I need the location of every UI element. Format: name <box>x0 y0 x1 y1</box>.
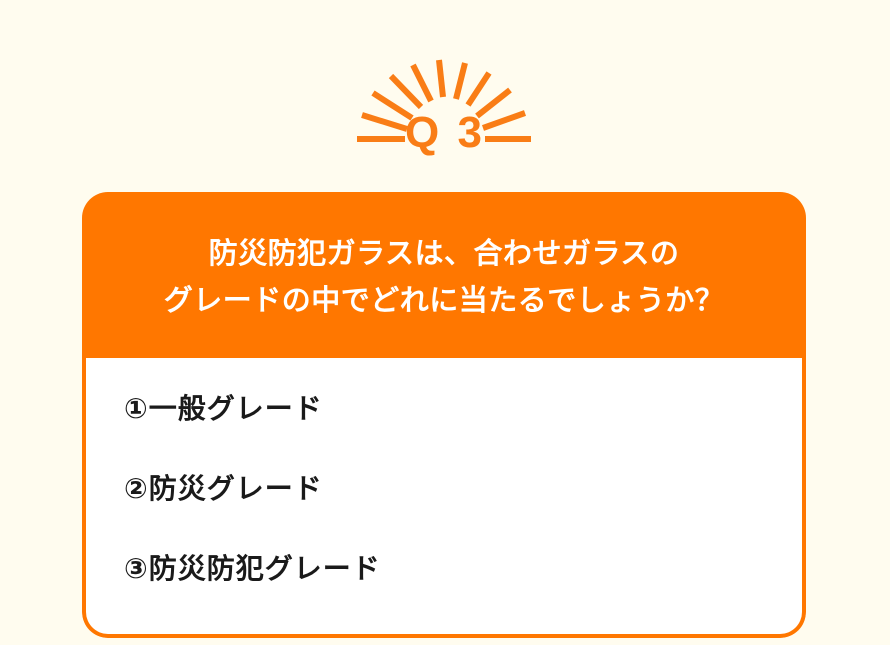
answer-option-2[interactable]: ②防災グレード <box>124 472 802 506</box>
answer-options-list: ①一般グレード ②防災グレード ③防災防犯グレード <box>82 358 806 638</box>
question-text-line-1: 防災防犯ガラスは、合わせガラスの <box>209 231 680 278</box>
question-header: 防災防犯ガラスは、合わせガラスの グレードの中でどれに当たるでしょうか？ <box>82 192 806 358</box>
quiz-slide: Q 3 防災防犯ガラスは、合わせガラスの グレードの中でどれに当たるでしょうか？… <box>0 0 890 645</box>
answer-option-3[interactable]: ③防災防犯グレード <box>124 552 802 586</box>
quiz-card: 防災防犯ガラスは、合わせガラスの グレードの中でどれに当たるでしょうか？ ①一般… <box>82 192 806 638</box>
question-text-line-2: グレードの中でどれに当たるでしょうか？ <box>164 278 725 325</box>
question-number-label: Q 3 <box>0 110 890 156</box>
answer-option-1[interactable]: ①一般グレード <box>124 392 802 426</box>
question-badge: Q 3 <box>0 55 890 170</box>
